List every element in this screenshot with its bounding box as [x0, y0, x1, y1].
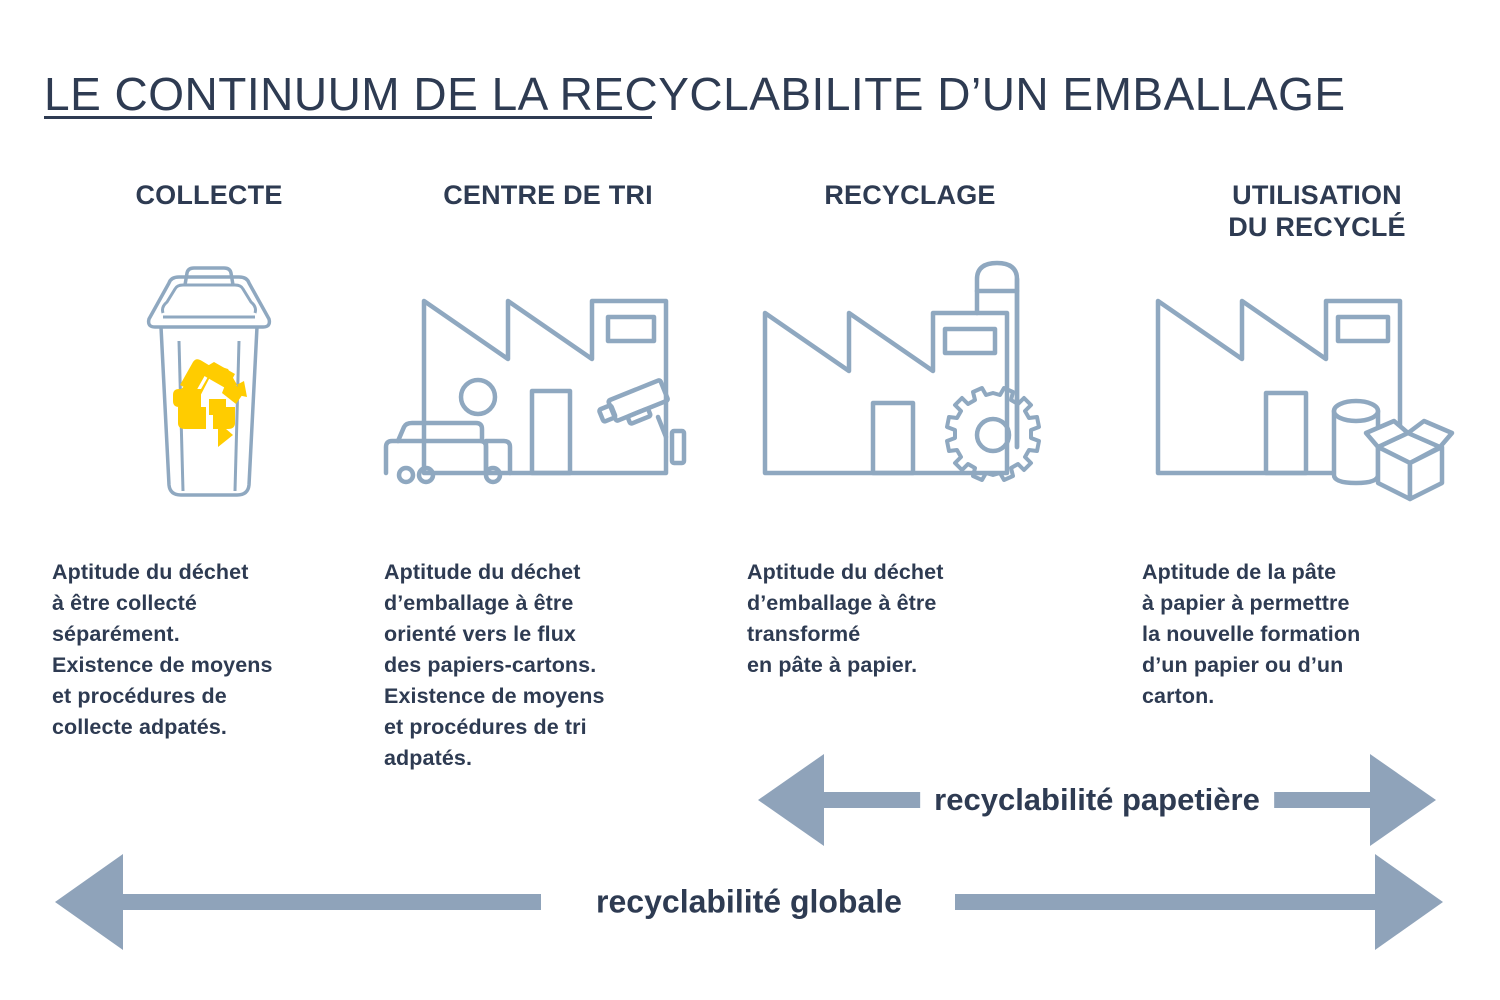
column-heading-collecte: COLLECTE — [44, 180, 374, 252]
sorting-facility-icon — [380, 252, 710, 507]
column-body-recyclage: Aptitude du déchet d’emballage à être tr… — [747, 557, 1075, 681]
recycling-bin-icon — [44, 252, 374, 507]
arrow-recyclabilite-papetiere: recyclabilité papetière — [758, 752, 1436, 848]
column-heading-centre-de-tri: CENTRE DE TRI — [380, 180, 710, 252]
arrow-label-recyclabilite-papetiere: recyclabilité papetière — [920, 782, 1274, 818]
column-recyclage: RECYCLAGE Aptitude du déchet d’em — [745, 180, 1075, 681]
column-collecte: COLLECTE — [44, 180, 374, 743]
column-heading-utilisation-du-recycle: UTILISATION DU RECYCLÉ — [1140, 180, 1470, 252]
column-centre-de-tri: CENTRE DE TRI — [380, 180, 710, 774]
page-title: LE CONTINUUM DE LA RECYCLABILITE D’UN EM… — [44, 67, 1346, 121]
column-body-collecte: Aptitude du déchet à être collecté sépar… — [52, 557, 374, 743]
infographic-page: LE CONTINUUM DE LA RECYCLABILITE D’UN EM… — [0, 0, 1500, 1000]
column-heading-recyclage: RECYCLAGE — [745, 180, 1075, 252]
paper-mill-icon — [1140, 252, 1470, 507]
title-underline — [44, 116, 652, 119]
arrow-recyclabilite-globale: recyclabilité globale — [55, 852, 1443, 952]
recycling-plant-icon — [745, 252, 1075, 507]
column-body-utilisation-du-recycle: Aptitude de la pâte à papier à permettre… — [1142, 557, 1470, 712]
column-body-centre-de-tri: Aptitude du déchet d’emballage à être or… — [384, 557, 710, 774]
column-utilisation-du-recycle: UTILISATION DU RECYCLÉ — [1140, 180, 1470, 712]
arrow-label-recyclabilite-globale: recyclabilité globale — [582, 884, 916, 921]
